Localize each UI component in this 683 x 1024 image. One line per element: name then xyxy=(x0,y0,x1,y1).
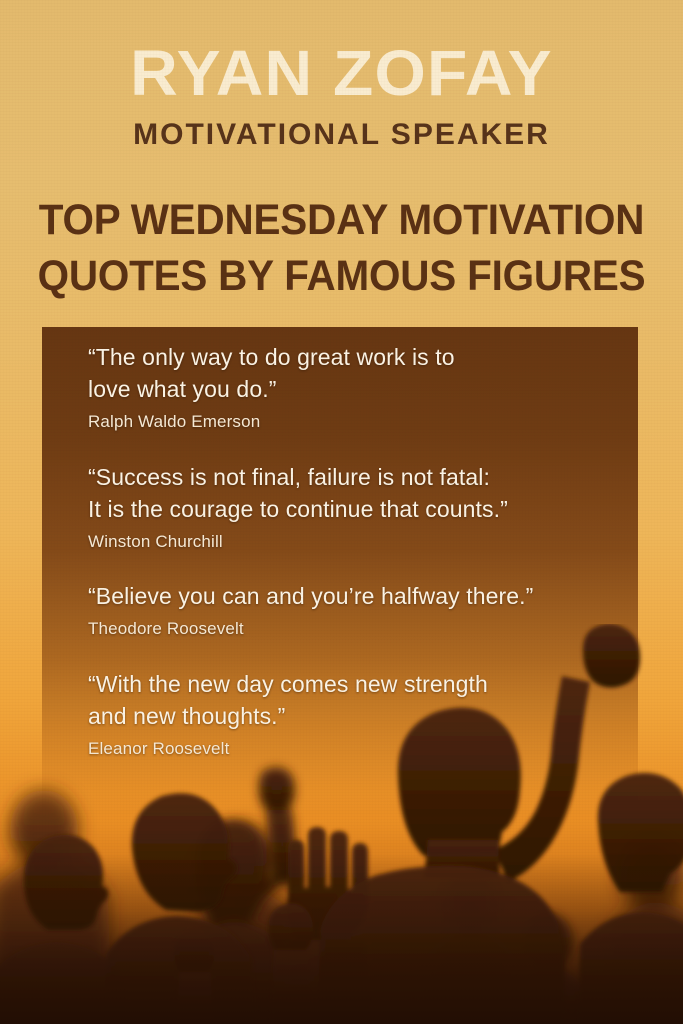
quote-line: “Success is not final, failure is not fa… xyxy=(88,461,620,493)
raised-fist-small xyxy=(268,903,313,1024)
poster-header: RYAN ZOFAY MOTIVATIONAL SPEAKER xyxy=(0,0,683,150)
page-title: TOP WEDNESDAY MOTIVATION QUOTES BY FAMOU… xyxy=(20,193,662,305)
page-title-line-2: QUOTES BY FAMOUS FIGURES xyxy=(20,249,662,305)
quote-text: “Success is not final, failure is not fa… xyxy=(88,461,620,525)
raised-fist-second xyxy=(174,929,214,1024)
quote-author: Winston Churchill xyxy=(88,531,620,552)
quote-text: “The only way to do great work is to lov… xyxy=(88,341,620,405)
poster-canvas: RYAN ZOFAY MOTIVATIONAL SPEAKER TOP WEDN… xyxy=(0,0,683,1024)
quote-line: “The only way to do great work is to xyxy=(88,341,620,373)
quote-line: It is the courage to continue that count… xyxy=(88,493,620,525)
quote-line: love what you do.” xyxy=(88,373,620,405)
quote-item: “The only way to do great work is to lov… xyxy=(88,341,620,433)
page-title-line-1: TOP WEDNESDAY MOTIVATION xyxy=(20,193,662,249)
quote-line: “Believe you can and you’re halfway ther… xyxy=(88,580,620,612)
quote-text: “Believe you can and you’re halfway ther… xyxy=(88,580,620,612)
brand-tagline: MOTIVATIONAL SPEAKER xyxy=(0,105,683,150)
quote-author: Ralph Waldo Emerson xyxy=(88,411,620,432)
foreground-crowd-group xyxy=(0,624,683,1024)
quote-item: “Success is not final, failure is not fa… xyxy=(88,461,620,553)
crowd-silhouette-artwork xyxy=(0,624,683,1024)
brand-name: RYAN ZOFAY xyxy=(0,0,683,105)
